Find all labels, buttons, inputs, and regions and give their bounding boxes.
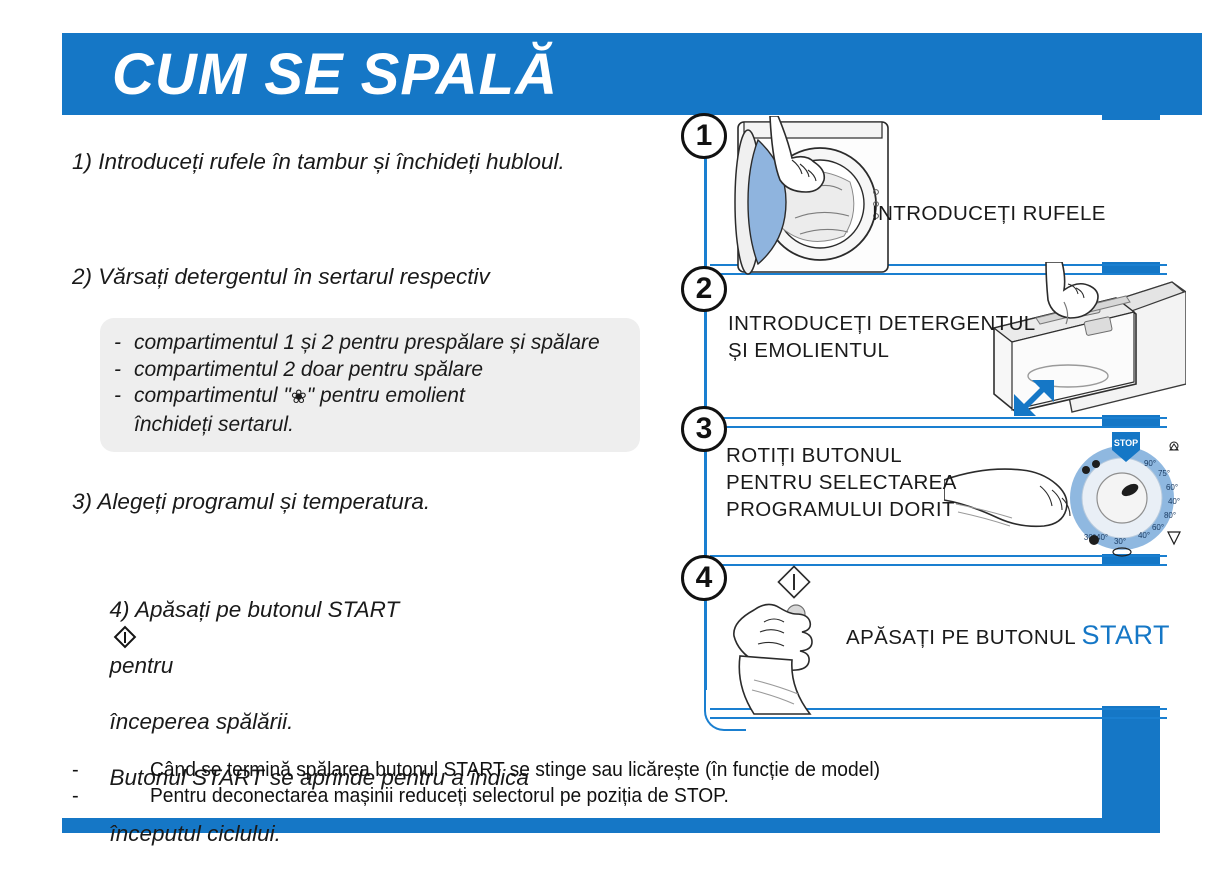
svg-text:60°: 60° [1166,483,1178,492]
list-item: - compartimentul 2 doar pentru spălare [114,357,626,384]
svg-text:40°: 40° [1138,531,1150,540]
step-4-label: APĂSAȚI PE BUTONUL START [846,622,1186,651]
step-badge-3: 3 [681,406,727,452]
instruction-step-2: 2) Vărsați detergentul în sertarul respe… [72,263,672,291]
step-4-label-accent: START [1081,620,1170,650]
note-text-1: Când se termină spălarea butonul START s… [150,757,1064,783]
detergent-compartment-box: - compartimentul 1 și 2 pentru prespălar… [100,318,640,452]
step4-line2: începerea spălării. [110,709,294,734]
note-item: - Pentru deconectarea mașinii reduceți s… [72,783,1102,809]
step-badge-1: 1 [681,113,727,159]
step-3-label: ROTIȚI BUTONUL PENTRU SELECTAREA PROGRAM… [726,442,1026,523]
note-text-2: Pentru deconectarea mașinii reduceți sel… [150,783,1064,809]
step-3-label-line3: PROGRAMULUI DORIT [726,496,1026,523]
step-2-label-line1: INTRODUCEȚI DETERGENTUL [728,310,1058,337]
page-title: CUM SE SPALĂ [112,36,732,114]
step-1-label: INTRODUCEȚI RUFELE [872,200,1172,227]
instruction-step-1: 1) Introduceți rufele în tambur și închi… [72,148,672,176]
step-2-label: INTRODUCEȚI DETERGENTUL ȘI EMOLIENTUL [728,310,1058,364]
svg-text:80°: 80° [1164,511,1176,520]
step-3-label-line2: PENTRU SELECTAREA [726,469,1026,496]
washing-machine-loading-laundry-illustration [700,116,910,276]
footer-notes: - Când se termină spălarea butonul START… [72,757,1102,809]
bullet-3-line2: închideți sertarul. [134,413,294,436]
bullet-3-suffix: " pentru emolient [307,384,465,407]
steps-column: INTRODUCEȚI RUFELE 1 [676,112,1176,824]
bullet-3-prefix: compartimentul " [134,384,291,407]
bullet-text-3: compartimentul "❀" pentru emolient închi… [134,383,626,438]
list-item: - compartimentul 1 și 2 pentru prespălar… [114,330,626,357]
start-button-icon [114,626,137,649]
flower-icon: ❀ [291,387,307,408]
note-dash: - [72,757,150,783]
instruction-step-3: 3) Alegeți programul și temperatura. [72,488,672,516]
step-badge-2: 2 [681,266,727,312]
svg-text:60°: 60° [1152,523,1164,532]
instruction-step-4: 4) Apăsați pe butonul START pentru încep… [72,568,632,876]
bullet-text-1: compartimentul 1 și 2 pentru prespălare … [134,330,626,357]
poster-root: CUM SE SPALĂ 1) Introduceți rufele în ta… [0,0,1225,873]
drawer-arrow-icon [1006,374,1068,424]
bullet-text-2: compartimentul 2 doar pentru spălare [134,357,626,384]
svg-text:90°: 90° [1144,459,1156,468]
step-4-label-prefix: APĂSAȚI PE BUTONUL [846,626,1075,649]
note-dash: - [72,783,150,809]
list-item: - compartimentul "❀" pentru emolient înc… [114,383,626,438]
note-item: - Când se termină spălarea butonul START… [72,757,1102,783]
dial-stop-label: STOP [1114,438,1138,448]
bullet-dash: - [114,330,134,357]
step4-line4: începutul ciclului. [110,821,281,846]
svg-text:40°: 40° [1168,497,1180,506]
bullet-dash: - [114,357,134,384]
svg-text:30°: 30° [1114,537,1126,546]
step4-text-part2: pentru [110,653,174,678]
step-badge-4: 4 [681,555,727,601]
step-connector-3 [704,449,707,567]
step4-text-part1: 4) Apăsați pe butonul START [110,597,400,622]
bullet-dash: - [114,383,134,438]
step-2-label-line2: ȘI EMOLIENTUL [728,337,1058,364]
step-3-label-line1: ROTIȚI BUTONUL [726,442,1026,469]
svg-text:75°: 75° [1158,469,1170,478]
